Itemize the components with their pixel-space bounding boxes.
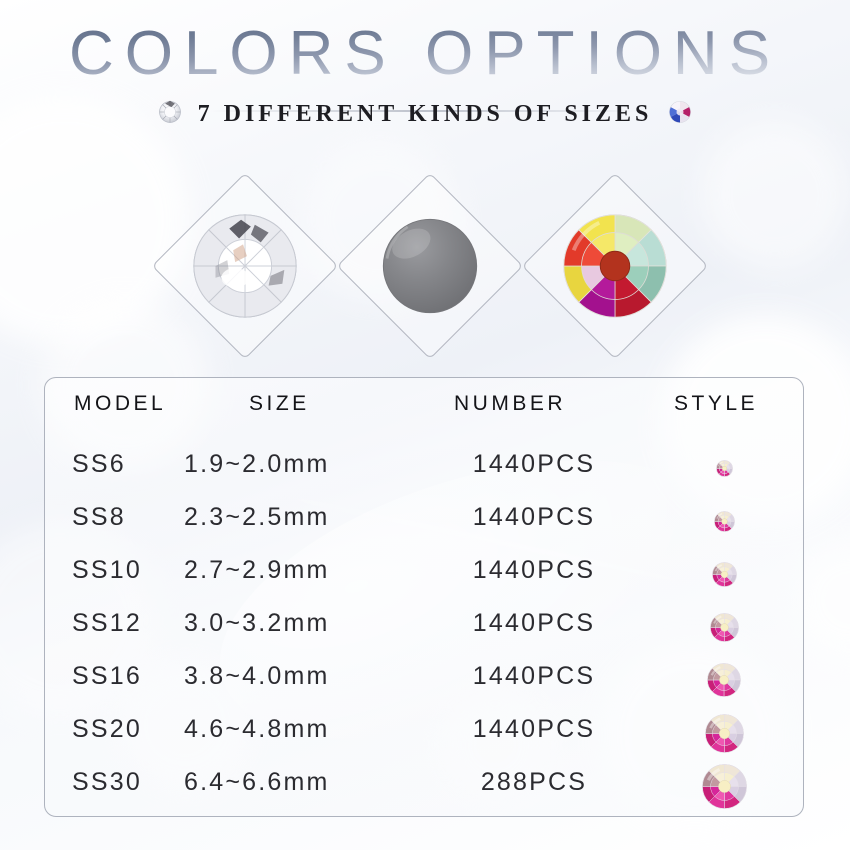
ab-rhinestone-icon bbox=[710, 613, 739, 642]
infographic-page: COLORS OPTIONS bbox=[0, 0, 850, 850]
table-row: SS306.4~6.6mm288PCS bbox=[44, 762, 804, 815]
cell-size: 2.3~2.5mm bbox=[184, 503, 404, 532]
cell-size: 1.9~2.0mm bbox=[184, 450, 404, 479]
cell-style-gem bbox=[664, 656, 784, 704]
cell-number: 1440PCS bbox=[429, 450, 639, 479]
ab-rhinestone-icon bbox=[712, 562, 737, 587]
product-showcase bbox=[0, 172, 850, 362]
cell-style-gem bbox=[664, 444, 784, 492]
ab-rhinestone-icon bbox=[714, 511, 735, 532]
cell-size: 3.0~3.2mm bbox=[184, 609, 404, 638]
table-row: SS163.8~4.0mm1440PCS bbox=[44, 656, 804, 709]
cell-number: 288PCS bbox=[429, 768, 639, 797]
cell-size: 3.8~4.0mm bbox=[184, 662, 404, 691]
table-header-row: MODEL SIZE NUMBER STYLE bbox=[44, 392, 804, 434]
ab-rainbow-rhinestone-front bbox=[549, 200, 681, 332]
table-body: SS61.9~2.0mm1440PCSSS82.3~2.5mm1440PCSSS… bbox=[44, 444, 804, 815]
ab-rhinestone-icon bbox=[716, 460, 733, 477]
cell-style-gem bbox=[664, 709, 784, 757]
page-subtitle: 7 DIFFERENT KINDS OF SIZES bbox=[198, 101, 653, 128]
cell-size: 6.4~6.6mm bbox=[184, 768, 404, 797]
cell-style-gem bbox=[664, 497, 784, 545]
ab-rhinestone-icon bbox=[707, 663, 741, 697]
cell-size: 4.6~4.8mm bbox=[184, 715, 404, 744]
cell-number: 1440PCS bbox=[429, 715, 639, 744]
ab-rhinestone-icon bbox=[666, 98, 694, 131]
column-header-number: NUMBER bbox=[454, 392, 644, 416]
cell-size: 2.7~2.9mm bbox=[184, 556, 404, 585]
cell-number: 1440PCS bbox=[429, 556, 639, 585]
cell-style-gem bbox=[664, 762, 784, 810]
rhinestone-flat-back bbox=[364, 200, 496, 332]
page-title: COLORS OPTIONS bbox=[0, 18, 850, 89]
cell-number: 1440PCS bbox=[429, 662, 639, 691]
column-header-size: SIZE bbox=[249, 392, 409, 416]
table-row: SS61.9~2.0mm1440PCS bbox=[44, 444, 804, 497]
ab-rhinestone-icon bbox=[702, 764, 747, 809]
table-row: SS102.7~2.9mm1440PCS bbox=[44, 550, 804, 603]
ab-rhinestone-icon bbox=[705, 714, 744, 753]
column-header-style: STYLE bbox=[674, 392, 794, 416]
table-row: SS204.6~4.8mm1440PCS bbox=[44, 709, 804, 762]
table-row: SS82.3~2.5mm1440PCS bbox=[44, 497, 804, 550]
cell-number: 1440PCS bbox=[429, 503, 639, 532]
cell-number: 1440PCS bbox=[429, 609, 639, 638]
column-header-model: MODEL bbox=[74, 392, 234, 416]
crystal-clear-rhinestone-front bbox=[179, 200, 311, 332]
cell-style-gem bbox=[664, 603, 784, 651]
cell-style-gem bbox=[664, 550, 784, 598]
subtitle-row: 7 DIFFERENT KINDS OF SIZES bbox=[0, 98, 850, 131]
clear-rhinestone-icon bbox=[156, 98, 184, 131]
table-row: SS123.0~3.2mm1440PCS bbox=[44, 603, 804, 656]
